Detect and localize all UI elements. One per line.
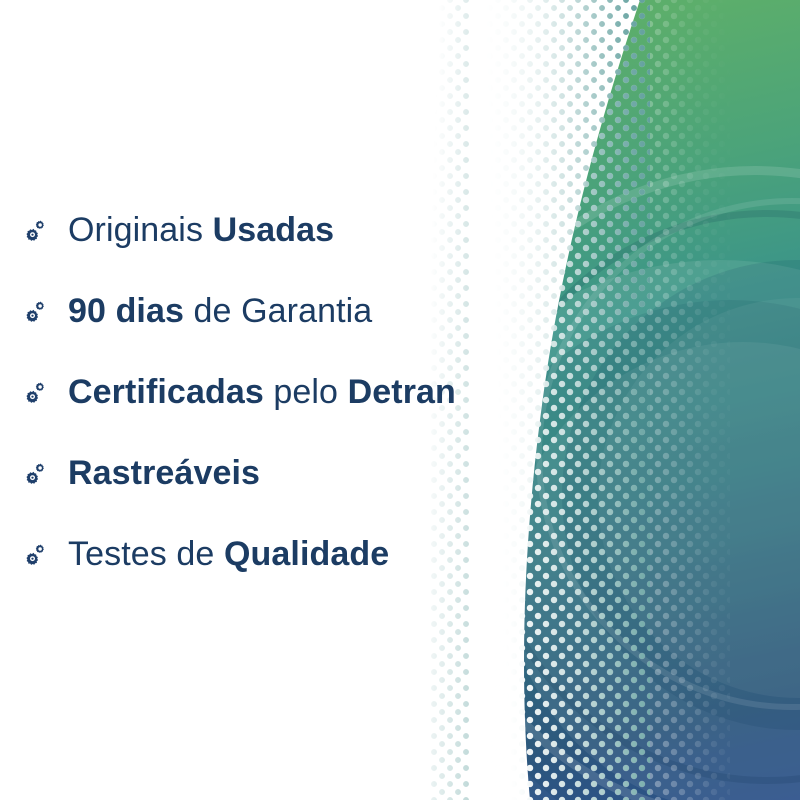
halftone-dots-colored [430, 0, 650, 800]
list-item: Rastreáveis [26, 456, 260, 490]
feature-plain-before: Testes de [68, 535, 224, 573]
ring-thin-top [426, 166, 800, 800]
list-item: Originais Usadas [26, 213, 334, 247]
feature-plain-before: Originais [68, 211, 213, 249]
list-item-label: Rastreáveis [68, 456, 260, 490]
ring-disc-inner [508, 342, 800, 800]
gears-icon [26, 219, 48, 241]
list-item: 90 dias de Garantia [26, 294, 372, 328]
feature-bold: Certificadas [68, 373, 264, 411]
list-item: Testes de Qualidade [26, 537, 389, 571]
gears-icon [26, 543, 48, 565]
gears-icon [26, 462, 48, 484]
halftone-dots-white [470, 0, 730, 800]
ring-thin-top-2 [480, 210, 800, 784]
ring-disc-core-2 [598, 298, 800, 698]
list-item-label: Originais Usadas [68, 213, 334, 247]
feature-bold: Rastreáveis [68, 454, 260, 492]
feature-bold: Usadas [213, 211, 335, 249]
ring-thin-top-3 [536, 198, 800, 710]
promo-banner: Originais Usadas 90 dias de Garantia [0, 0, 800, 800]
list-item-label: 90 dias de Garantia [68, 294, 372, 328]
gears-icon [26, 300, 48, 322]
feature-bold-2: Detran [348, 373, 456, 411]
feature-bold: 90 dias [68, 292, 184, 330]
feature-plain-after: de Garantia [184, 292, 372, 330]
list-item-label: Testes de Qualidade [68, 537, 389, 571]
ring-disc-mid [450, 300, 800, 800]
feature-plain-after: pelo [264, 373, 348, 411]
ring-disc-core [562, 260, 800, 730]
list-item: Certificadas pelo Detran [26, 375, 456, 409]
ring-disc-outer [390, 260, 800, 800]
list-item-label: Certificadas pelo Detran [68, 375, 456, 409]
feature-bold: Qualidade [224, 535, 389, 573]
gears-icon [26, 381, 48, 403]
